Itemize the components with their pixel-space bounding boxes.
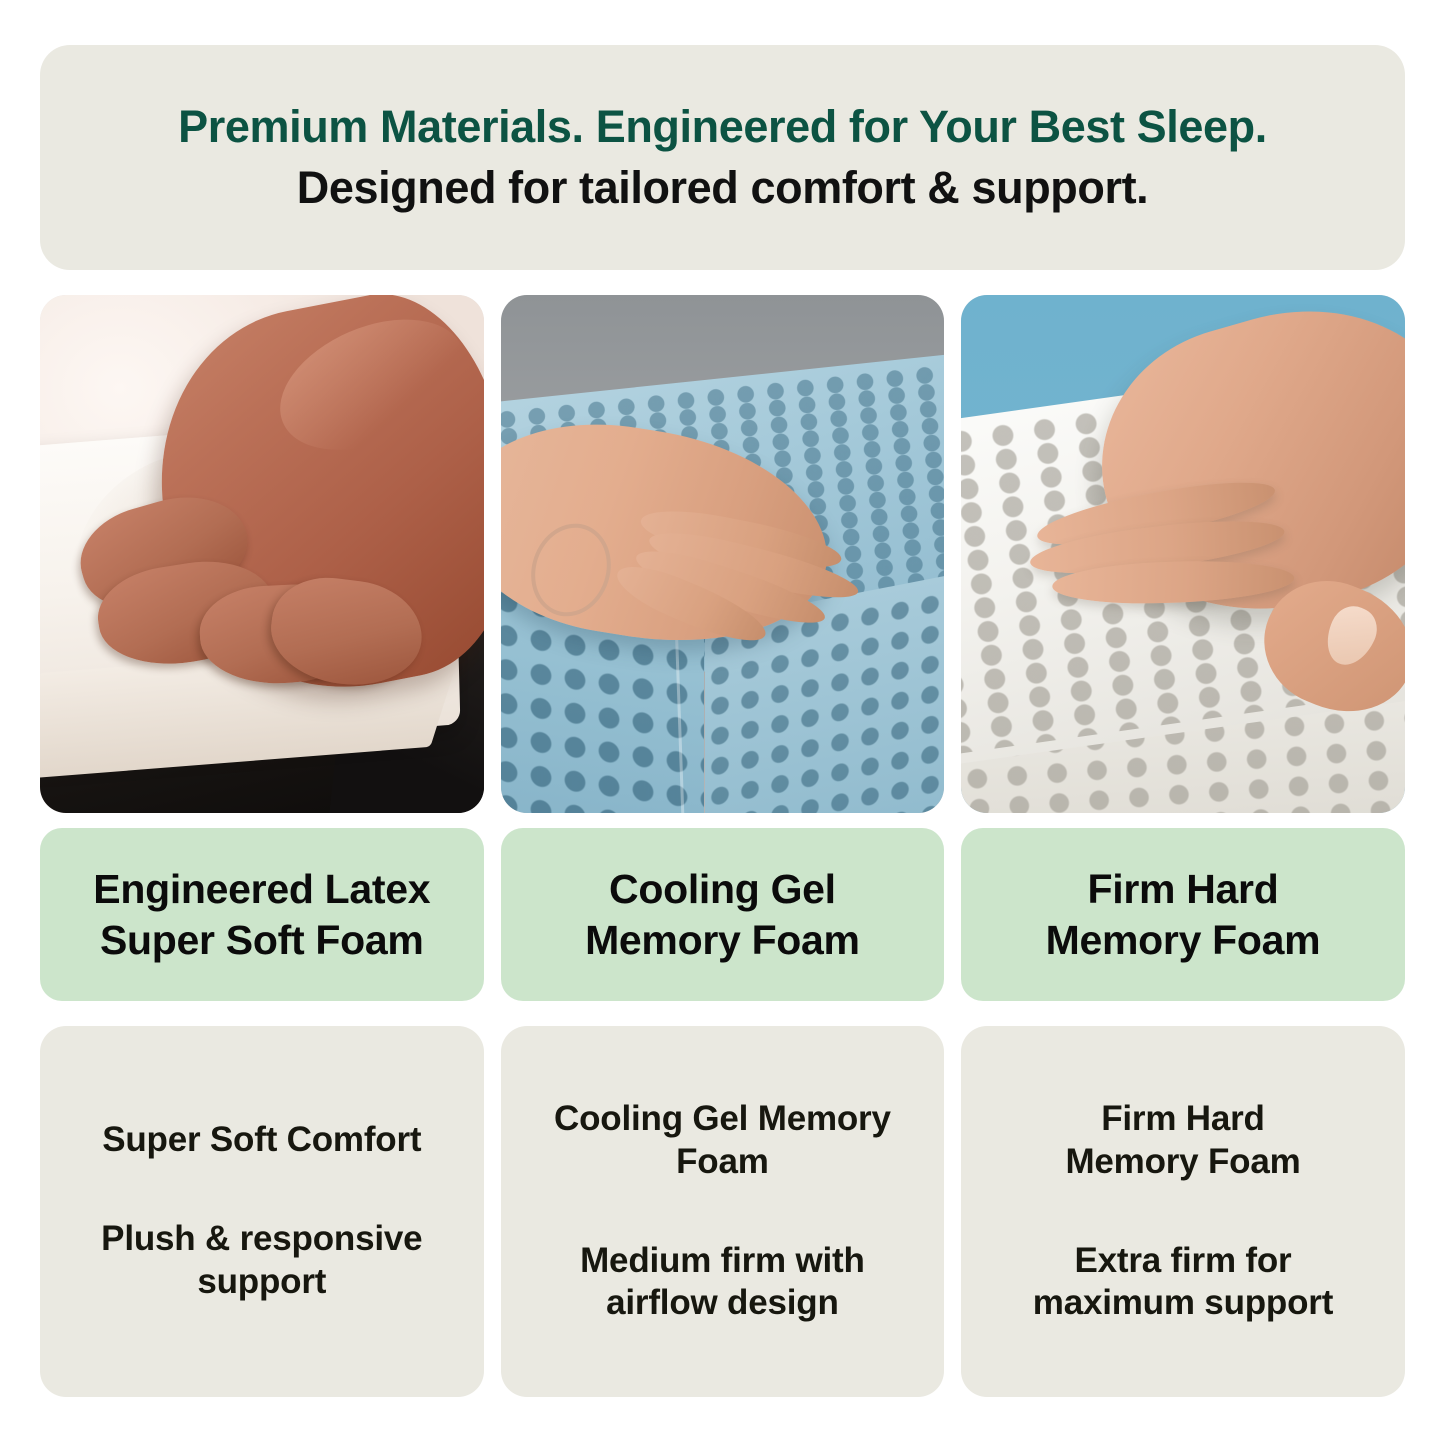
material-title-pill-latex: Engineered Latex Super Soft Foam [40,828,484,1001]
description-secondary-text: Medium firm with airflow design [580,1240,865,1325]
product-column-firm-hard: Firm Hard Memory Foam Firm Hard Memory F… [961,295,1405,1397]
infographic-page: Premium Materials. Engineered for Your B… [0,0,1445,1441]
product-column-latex: Engineered Latex Super Soft Foam Super S… [40,295,484,1397]
description-primary-text: Firm Hard Memory Foam [1065,1098,1300,1183]
firm-memory-foam-photo [961,295,1405,813]
headline-primary: Premium Materials. Engineered for Your B… [178,102,1267,152]
product-columns: Engineered Latex Super Soft Foam Super S… [40,295,1405,1397]
material-title-pill-cooling-gel: Cooling Gel Memory Foam [501,828,945,1001]
material-title-label: Cooling Gel Memory Foam [585,864,860,964]
material-description-card-firm-hard: Firm Hard Memory Foam Extra firm for max… [961,1026,1405,1397]
header-banner: Premium Materials. Engineered for Your B… [40,45,1405,270]
headline-secondary: Designed for tailored comfort & support. [297,163,1149,213]
description-primary-text: Super Soft Comfort [102,1119,421,1162]
material-description-card-cooling-gel: Cooling Gel Memory Foam Medium firm with… [501,1026,945,1397]
description-secondary-text: Plush & responsive support [101,1218,422,1303]
product-column-cooling-gel: Cooling Gel Memory Foam Cooling Gel Memo… [501,295,945,1397]
cooling-gel-foam-photo [501,295,945,813]
description-secondary-text: Extra firm for maximum support [1033,1240,1333,1325]
material-description-card-latex: Super Soft Comfort Plush & responsive su… [40,1026,484,1397]
material-title-label: Firm Hard Memory Foam [1046,864,1321,964]
material-title-pill-firm-hard: Firm Hard Memory Foam [961,828,1405,1001]
description-primary-text: Cooling Gel Memory Foam [554,1098,891,1183]
material-title-label: Engineered Latex Super Soft Foam [93,864,430,964]
latex-foam-photo [40,295,484,813]
